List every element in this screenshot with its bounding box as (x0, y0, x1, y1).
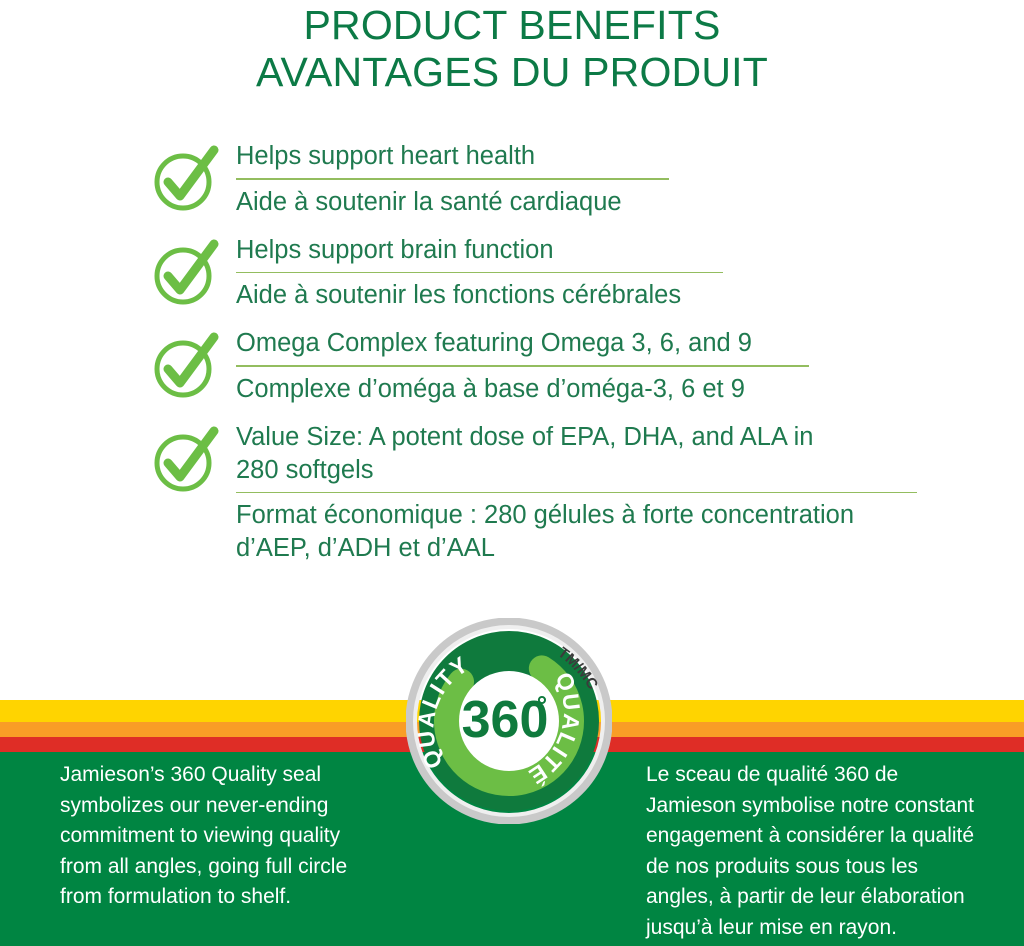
benefit-label-fr: Format économique : 280 gélules à forte … (236, 499, 990, 565)
divider (236, 365, 809, 367)
list-item: Value Size: A potent dose of EPA, DHA, a… (150, 419, 990, 566)
footer-text-en: Jamieson’s 360 Quality seal symbolizes o… (60, 760, 410, 913)
benefit-text: Omega Complex featuring Omega 3, 6, and … (236, 325, 990, 406)
benefit-label-fr: Aide à soutenir les fonctions cérébrales (236, 279, 990, 312)
list-item: Helps support heart health Aide à souten… (150, 138, 990, 219)
divider (236, 272, 723, 274)
benefit-label-en: Helps support brain function (236, 234, 990, 267)
list-item: Helps support brain function Aide à sout… (150, 232, 990, 313)
benefit-label-en: Value Size: A potent dose of EPA, DHA, a… (236, 421, 990, 487)
list-item: Omega Complex featuring Omega 3, 6, and … (150, 325, 990, 406)
divider (236, 492, 917, 494)
page-title: PRODUCT BENEFITS AVANTAGES DU PRODUIT (0, 0, 1024, 96)
benefit-label-en: Omega Complex featuring Omega 3, 6, and … (236, 327, 990, 360)
check-circle-icon (150, 419, 236, 495)
benefit-text: Helps support heart health Aide à souten… (236, 138, 990, 219)
page-title-en: PRODUCT BENEFITS (0, 0, 1024, 49)
benefits-list: Helps support heart health Aide à souten… (150, 138, 990, 578)
product-benefits-panel: PRODUCT BENEFITS AVANTAGES DU PRODUIT He… (0, 0, 1024, 946)
benefit-label-en: Helps support heart health (236, 140, 990, 173)
check-circle-icon (150, 232, 236, 308)
quality-360-seal-icon: 360 ° QUALITY QUALITÉ TM/MC (406, 618, 612, 824)
footer-text-fr: Le sceau de qualité 360 de Jamieson symb… (646, 760, 1006, 943)
seal-degree-symbol: ° (537, 690, 547, 720)
benefit-label-fr: Complexe d’oméga à base d’oméga-3, 6 et … (236, 373, 990, 406)
benefit-text: Helps support brain function Aide à sout… (236, 232, 990, 313)
benefit-text: Value Size: A potent dose of EPA, DHA, a… (236, 419, 990, 566)
page-title-fr: AVANTAGES DU PRODUIT (0, 49, 1024, 96)
check-circle-icon (150, 138, 236, 214)
check-circle-icon (150, 325, 236, 401)
divider (236, 178, 669, 180)
benefit-label-fr: Aide à soutenir la santé cardiaque (236, 186, 990, 219)
seal-center-number: 360 (462, 691, 549, 749)
